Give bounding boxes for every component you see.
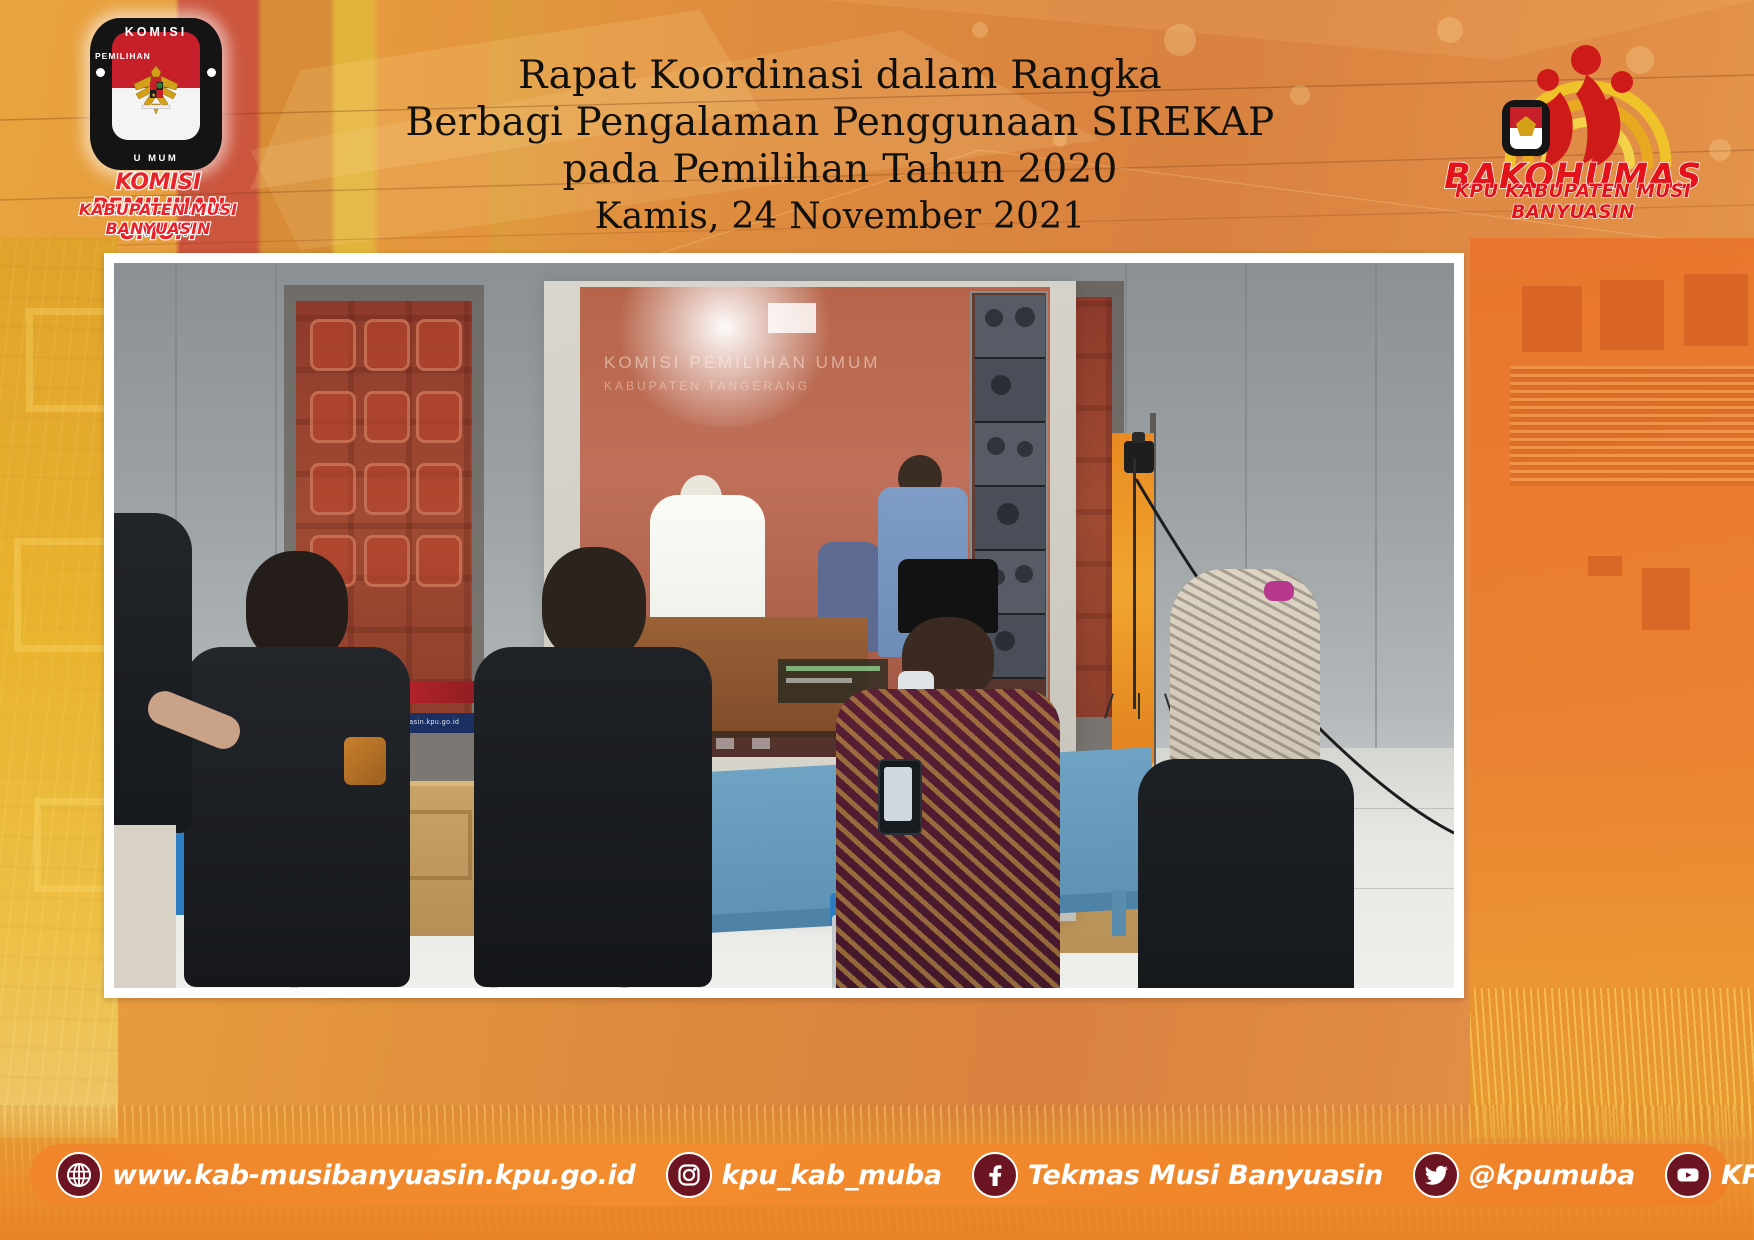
attendee-4-hair-accessory [1264,581,1294,601]
video-camera-icon [1124,441,1154,473]
kpu-badge-bottom-text: U MUM [90,153,222,164]
background-left-texture [0,238,118,1138]
footer-youtube-label: KPU Kabupaten Musi Banyuasin [1721,1160,1754,1191]
projection-title: KOMISI PEMILIHAN UMUM [604,353,904,373]
footer-item-twitter[interactable]: @kpumuba [1413,1152,1635,1198]
footer-facebook-label: Tekmas Musi Banyuasin [1028,1160,1383,1191]
globe-icon [56,1152,102,1198]
footer-item-youtube[interactable]: KPU Kabupaten Musi Banyuasin [1665,1152,1754,1198]
poster-title: Rapat Koordinasi dalam Rangka Berbagi Pe… [300,52,1380,240]
poster-canvas: KOMISI PEMILIHAN U MUM [0,0,1754,1240]
kpu-emblem-badge: KOMISI PEMILIHAN U MUM [90,18,222,170]
youtube-icon [1665,1152,1711,1198]
kpu-badge-top-text: KOMISI [90,25,222,39]
facebook-icon [972,1152,1018,1198]
attendee-2-body [474,647,712,987]
event-photo: KPU KABUPATEN MUSI BANYUASIN www.kab-mus… [114,263,1454,988]
social-media-footer-bar: www.kab-musibanyuasin.kpu.go.id kpu_kab_… [30,1144,1730,1206]
background-right-building [1470,238,1754,1138]
kpu-badge-side-text: PEMILIHAN [95,52,111,62]
attendee-1-body [184,647,410,987]
attendee-3-batik-outfit [836,689,1060,988]
photo-frame: KPU KABUPATEN MUSI BANYUASIN www.kab-mus… [104,253,1464,998]
footer-instagram-label: kpu_kab_muba [722,1160,942,1191]
poster-header: KOMISI PEMILIHAN U MUM [0,0,1754,250]
twitter-icon [1413,1152,1459,1198]
standing-person-legs [114,825,176,988]
title-line-1: Rapat Koordinasi dalam Rangka [300,52,1380,99]
footer-twitter-label: @kpumuba [1469,1160,1635,1191]
footer-item-facebook[interactable]: Tekmas Musi Banyuasin [972,1152,1383,1198]
title-line-4-date: Kamis, 24 November 2021 [300,193,1380,240]
attendee-2-head [542,547,646,661]
garuda-icon [130,62,182,116]
title-line-2: Berbagi Pengalaman Penggunaan SIREKAP [300,99,1380,146]
kpu-logo: KOMISI PEMILIHAN U MUM [62,18,252,233]
bakohumas-logo: BAKOHUMAS KPU KABUPATEN MUSI BANYUASIN [1414,14,1732,239]
attendee-4-body [1138,759,1354,988]
footer-website-label: www.kab-musibanyuasin.kpu.go.id [112,1160,636,1191]
projection-emblem-icon [768,303,816,333]
bakohumas-subtitle: KPU KABUPATEN MUSI BANYUASIN [1414,181,1732,223]
instagram-icon [666,1152,712,1198]
title-line-3: pada Pemilihan Tahun 2020 [300,146,1380,193]
standing-person-body [114,513,192,833]
attendee-3-phone-screen [884,767,912,821]
attendee-1-patch [344,737,386,785]
footer-item-website[interactable]: www.kab-musibanyuasin.kpu.go.id [56,1152,636,1198]
kpu-logo-line-2: KABUPATEN MUSI BANYUASIN [52,200,264,238]
projection-subtitle: KABUPATEN TANGERANG [604,379,904,393]
footer-item-instagram[interactable]: kpu_kab_muba [666,1152,942,1198]
